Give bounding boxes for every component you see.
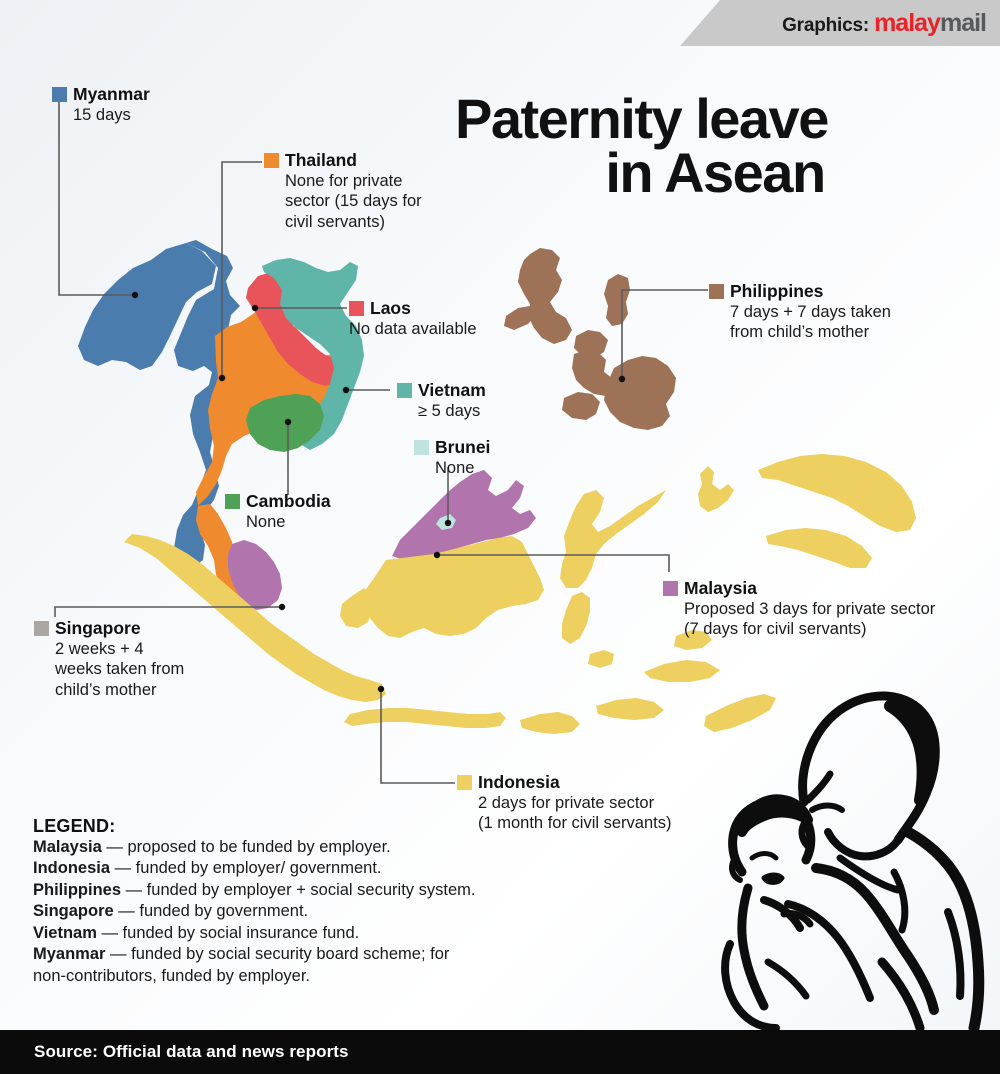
legend-item-vietnam: Vietnam — funded by social insurance fun… — [33, 923, 503, 944]
legend-item-singapore-text: — funded by government. — [114, 902, 308, 920]
callout-brunei[interactable]: Brunei None — [414, 437, 490, 478]
infographic-page: Graphics: malaymail Paternity leave in A… — [0, 0, 1000, 1074]
swatch-indonesia-icon — [457, 775, 472, 790]
leader-dot-cambodia — [285, 419, 291, 425]
father-jaw — [828, 832, 898, 856]
callout-vietnam[interactable]: Vietnam ≥ 5 days — [397, 380, 486, 421]
callout-malaysia[interactable]: Malaysia Proposed 3 days for private sec… — [663, 578, 935, 640]
callout-vietnam-header: Vietnam — [397, 380, 486, 401]
callout-laos-name: Laos — [370, 298, 411, 319]
father-shoulder-right — [908, 832, 979, 1028]
father-eye — [812, 806, 842, 811]
leader-dot-brunei — [445, 520, 451, 526]
legend-item-myanmar-country: Myanmar — [33, 945, 105, 963]
source-text: Source: Official data and news reports — [34, 1042, 349, 1062]
callout-philippines-header: Philippines — [709, 281, 891, 302]
legend-item-indonesia-country: Indonesia — [33, 859, 110, 877]
map-region-indonesia-sulawesi[interactable] — [560, 490, 666, 588]
callout-thailand-detail-2: sector (15 days for — [285, 192, 422, 211]
leader-dot-myanmar — [132, 292, 138, 298]
callout-laos-detail: No data available — [349, 320, 477, 339]
callout-indonesia-header: Indonesia — [457, 772, 671, 793]
map-region-philippines-luzon[interactable] — [518, 248, 572, 344]
callout-malaysia-name: Malaysia — [684, 578, 757, 599]
leader-dot-laos — [252, 305, 258, 311]
callout-cambodia-header: Cambodia — [225, 491, 331, 512]
callout-malaysia-detail-1: Proposed 3 days for private sector — [684, 600, 935, 619]
callout-philippines-name: Philippines — [730, 281, 823, 302]
source-footer: Source: Official data and news reports — [0, 1030, 1000, 1074]
baby-mouth — [764, 875, 782, 883]
legend-item-vietnam-country: Vietnam — [33, 924, 97, 942]
swatch-myanmar-icon — [52, 87, 67, 102]
map-region-indonesia-lesser-sunda-2[interactable] — [596, 698, 664, 720]
leader-dot-indonesia — [378, 686, 384, 692]
callout-malaysia-detail-2: (7 days for civil servants) — [684, 620, 935, 639]
callout-indonesia-name: Indonesia — [478, 772, 560, 793]
legend-item-indonesia: Indonesia — funded by employer/ governme… — [33, 858, 503, 879]
legend-item-singapore: Singapore — funded by government. — [33, 901, 503, 922]
map-region-indonesia-lesser-sunda-1[interactable] — [520, 712, 580, 734]
callout-myanmar-name: Myanmar — [73, 84, 150, 105]
swatch-cambodia-icon — [225, 494, 240, 509]
swatch-laos-icon — [349, 301, 364, 316]
legend-item-philippines: Philippines — funded by employer + socia… — [33, 880, 503, 901]
legend-item-indonesia-text: — funded by employer/ government. — [110, 859, 381, 877]
leader-dot-philippines — [619, 376, 625, 382]
swatch-singapore-icon — [34, 621, 49, 636]
callout-singapore-name: Singapore — [55, 618, 141, 639]
father-side — [948, 912, 961, 996]
callout-myanmar-header: Myanmar — [52, 84, 150, 105]
legend-item-myanmar: Myanmar — funded by social security boar… — [33, 944, 503, 965]
callout-indonesia-detail-2: (1 month for civil servants) — [478, 814, 671, 833]
callout-cambodia-name: Cambodia — [246, 491, 331, 512]
legend-item-vietnam-text: — funded by social insurance fund. — [97, 924, 359, 942]
father-hair — [890, 706, 932, 800]
legend-item-philippines-country: Philippines — [33, 881, 121, 899]
legend-title: LEGEND: — [33, 816, 503, 837]
baby-hair — [742, 799, 808, 832]
callout-singapore-header: Singapore — [34, 618, 184, 639]
callout-singapore-detail-3: child’s mother — [55, 681, 184, 700]
callout-myanmar[interactable]: Myanmar 15 days — [52, 84, 150, 125]
map-region-indonesia-papua-lower[interactable] — [766, 528, 872, 568]
leader-line-myanmar — [59, 100, 134, 295]
leader-line-indonesia — [381, 690, 455, 783]
callout-laos[interactable]: Laos No data available — [349, 298, 477, 339]
callout-thailand-name: Thailand — [285, 150, 357, 171]
callout-philippines-detail-1: 7 days + 7 days taken — [730, 303, 891, 322]
callout-indonesia-detail-1: 2 days for private sector — [478, 794, 671, 813]
map-region-philippines-mindanao[interactable] — [604, 356, 676, 430]
callout-cambodia[interactable]: Cambodia None — [225, 491, 331, 532]
legend-item-myanmar-text: — funded by social security board scheme… — [105, 945, 449, 963]
map-region-indonesia-borneo-west[interactable] — [340, 588, 372, 628]
legend-item-malaysia: Malaysia — proposed to be funded by empl… — [33, 837, 503, 858]
leader-dot-thailand — [219, 375, 225, 381]
callout-thailand-detail-1: None for private — [285, 172, 422, 191]
map-region-indonesia-borneo[interactable] — [364, 536, 544, 638]
map-region-philippines-visayas-b[interactable] — [604, 274, 630, 326]
callout-myanmar-detail: 15 days — [73, 106, 150, 125]
swatch-philippines-icon — [709, 284, 724, 299]
callout-singapore-detail-1: 2 weeks + 4 — [55, 640, 184, 659]
legend-item-myanmar-continuation: non-contributors, funded by employer. — [33, 966, 503, 987]
map-region-indonesia-lesser-sunda-3[interactable] — [644, 660, 720, 682]
father-chest — [894, 872, 905, 930]
legend-item-malaysia-country: Malaysia — [33, 838, 102, 856]
callout-philippines[interactable]: Philippines 7 days + 7 days taken from c… — [709, 281, 891, 343]
callout-cambodia-detail: None — [246, 513, 331, 532]
father-brow — [808, 774, 830, 800]
swatch-malaysia-icon — [663, 581, 678, 596]
map-region-philippines-palawan[interactable] — [504, 306, 536, 330]
callout-brunei-header: Brunei — [414, 437, 490, 458]
callout-malaysia-header: Malaysia — [663, 578, 935, 599]
map-region-indonesia-maluku-b[interactable] — [588, 650, 614, 668]
callout-brunei-name: Brunei — [435, 437, 490, 458]
callout-singapore[interactable]: Singapore 2 weeks + 4 weeks taken from c… — [34, 618, 184, 700]
map-region-indonesia-papua[interactable] — [758, 454, 916, 532]
map-region-philippines-mindanao-w[interactable] — [562, 392, 600, 420]
callout-philippines-detail-2: from child’s mother — [730, 323, 891, 342]
legend-item-philippines-text: — funded by employer + social security s… — [121, 881, 475, 899]
legend-item-malaysia-text: — proposed to be funded by employer. — [102, 838, 391, 856]
baby-leg — [768, 962, 806, 996]
swatch-brunei-icon — [414, 440, 429, 455]
leader-dot-malaysia — [434, 552, 440, 558]
callout-thailand-header: Thailand — [264, 150, 422, 171]
baby-eye — [752, 854, 776, 859]
callout-brunei-detail: None — [435, 459, 490, 478]
legend-item-singapore-country: Singapore — [33, 902, 114, 920]
legend: LEGEND: Malaysia — proposed to be funded… — [33, 816, 503, 987]
callout-singapore-detail-2: weeks taken from — [55, 660, 184, 679]
baby-body — [742, 888, 764, 1006]
callout-laos-header: Laos — [349, 298, 477, 319]
map-region-indonesia-halmahera[interactable] — [698, 466, 734, 512]
leader-dot-singapore — [279, 604, 285, 610]
callout-vietnam-detail: ≥ 5 days — [418, 402, 486, 421]
map-region-indonesia-java[interactable] — [344, 708, 506, 728]
swatch-vietnam-icon — [397, 383, 412, 398]
swatch-thailand-icon — [264, 153, 279, 168]
callout-vietnam-name: Vietnam — [418, 380, 486, 401]
callout-thailand[interactable]: Thailand None for private sector (15 day… — [264, 150, 422, 232]
map-region-indonesia-sulawesi-lower[interactable] — [562, 592, 590, 644]
leader-dot-vietnam — [343, 387, 349, 393]
callout-thailand-detail-3: civil servants) — [285, 213, 422, 232]
father-and-baby-illustration — [712, 662, 1000, 1030]
